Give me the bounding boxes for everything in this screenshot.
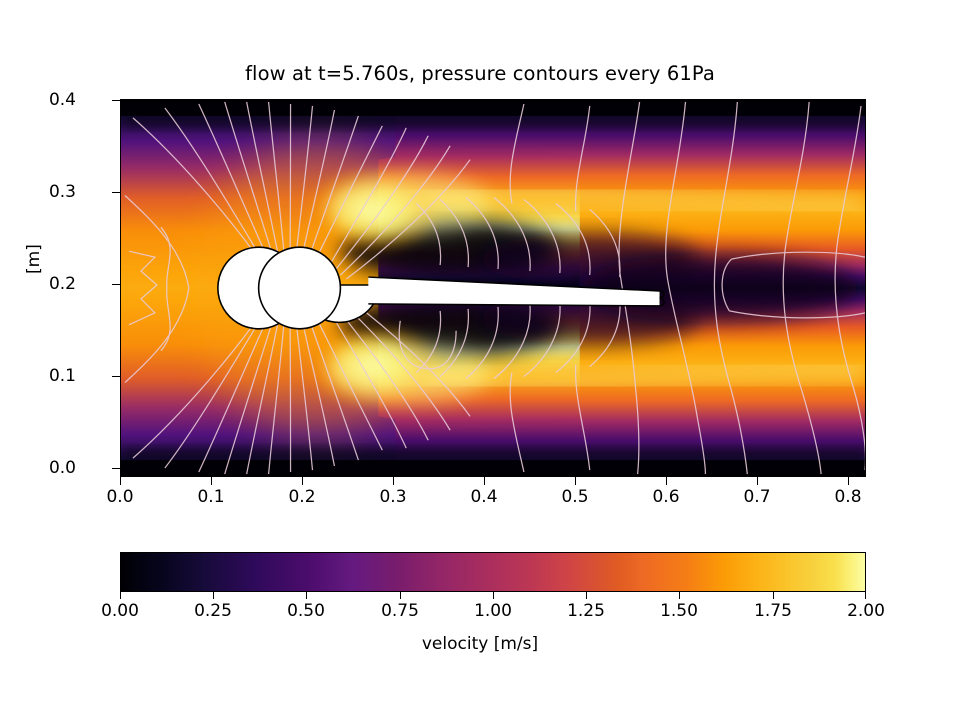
x-tick-label: 0.3	[358, 487, 428, 507]
flow-field-plot	[120, 99, 866, 477]
x-tick-mark	[666, 477, 667, 485]
x-tick-label: 0.1	[176, 487, 246, 507]
x-tick-label: 0.8	[813, 487, 883, 507]
velocity-field-layer	[121, 100, 865, 476]
y-tick-label: 0.3	[16, 182, 76, 202]
colorbar-gradient	[121, 553, 865, 591]
colorbar-tick-mark	[120, 592, 121, 599]
colorbar-tick-label: 1.25	[546, 601, 626, 621]
colorbar-label: velocity [m/s]	[0, 634, 960, 654]
x-tick-label: 0.2	[267, 487, 337, 507]
y-tick-label: 0.4	[16, 90, 76, 110]
x-tick-mark	[120, 477, 121, 485]
colorbar-tick-label: 0.75	[360, 601, 440, 621]
colorbar-tick-label: 2.00	[826, 601, 906, 621]
flow-field-svg	[121, 100, 865, 476]
colorbar-tick-label: 0.00	[80, 601, 160, 621]
colorbar-tick-mark	[679, 592, 680, 599]
y-tick-mark	[112, 100, 120, 101]
y-tick-mark	[112, 468, 120, 469]
colorbar-tick-mark	[213, 592, 214, 599]
x-tick-mark	[211, 477, 212, 485]
y-tick-mark	[112, 376, 120, 377]
colorbar-tick-label: 0.25	[173, 601, 253, 621]
x-tick-label: 0.0	[85, 487, 155, 507]
colorbar-tick-mark	[865, 592, 866, 599]
colorbar-tick-label: 1.00	[453, 601, 533, 621]
y-tick-label: 0.2	[16, 274, 76, 294]
colorbar-tick-label: 1.50	[639, 601, 719, 621]
x-tick-mark	[484, 477, 485, 485]
colorbar-tick-label: 0.50	[266, 601, 346, 621]
colorbar	[120, 552, 866, 592]
colorbar-tick-label: 1.75	[733, 601, 813, 621]
colorbar-tick-mark	[493, 592, 494, 599]
y-tick-mark	[112, 284, 120, 285]
x-tick-mark	[575, 477, 576, 485]
colorbar-tick-mark	[400, 592, 401, 599]
y-tick-mark	[112, 192, 120, 193]
figure-canvas: flow at t=5.760s, pressure contours ever…	[0, 0, 960, 720]
y-tick-label: 0.0	[16, 458, 76, 478]
page-title: flow at t=5.760s, pressure contours ever…	[0, 62, 960, 85]
colorbar-tick-mark	[306, 592, 307, 599]
colorbar-tick-mark	[586, 592, 587, 599]
x-tick-label: 0.7	[722, 487, 792, 507]
y-tick-label: 0.1	[16, 366, 76, 386]
x-tick-mark	[302, 477, 303, 485]
colorbar-tick-mark	[773, 592, 774, 599]
x-tick-label: 0.6	[631, 487, 701, 507]
x-tick-label: 0.4	[449, 487, 519, 507]
x-tick-mark	[393, 477, 394, 485]
y-axis-label: [m]	[24, 244, 44, 274]
x-tick-mark	[848, 477, 849, 485]
x-tick-label: 0.5	[540, 487, 610, 507]
x-tick-mark	[757, 477, 758, 485]
